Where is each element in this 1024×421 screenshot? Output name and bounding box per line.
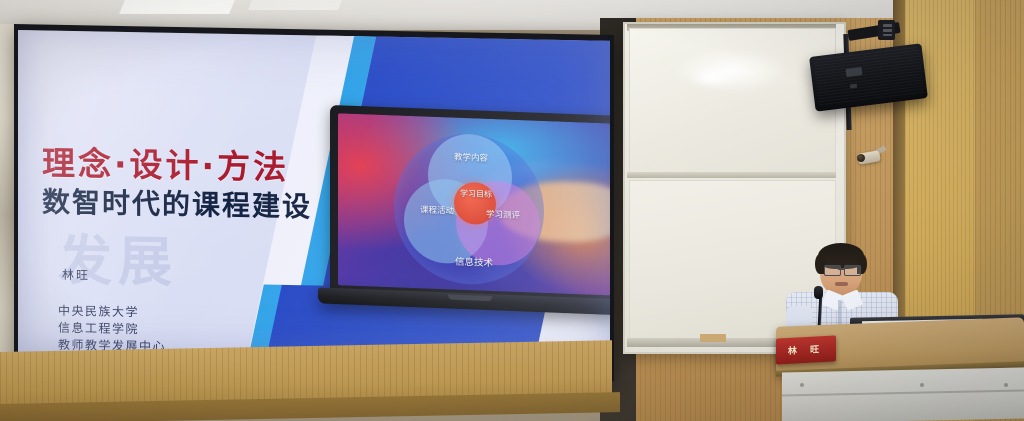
camera-lens-icon	[857, 154, 865, 162]
ceiling-light-secondary-icon	[248, 0, 342, 10]
speaker-brand-mark	[850, 84, 857, 89]
microphone-head-icon	[814, 286, 823, 299]
whiteboard-glare-hotspot	[688, 66, 736, 88]
projection-screen: 发展 理念·设计·方法 数智时代的课程建设 林旺 中央民族大学 信息工程学院 教…	[18, 30, 610, 375]
slide-author: 林旺	[62, 266, 90, 284]
slide-watermark: 发展	[58, 216, 308, 291]
presenter-glasses-left	[824, 265, 841, 276]
venn-diagram: 教学内容 课程活动 学习测评 学习目标 信息技术	[338, 113, 610, 295]
podium-fastener	[920, 383, 924, 387]
whiteboard-rail	[627, 172, 836, 178]
venn-label-center: 学习目标	[460, 190, 490, 200]
podium-fastener	[1004, 383, 1008, 387]
speaker-adjust-knobs	[883, 24, 892, 36]
laptop-mockup: 教学内容 课程活动 学习测评 学习目标 信息技术	[318, 107, 610, 347]
ceiling-light-icon	[119, 0, 235, 14]
slide-affiliation: 中央民族大学 信息工程学院 教师教学发展中心	[58, 303, 166, 356]
presenter-glasses-right	[844, 265, 861, 276]
venn-label-top: 教学内容	[454, 154, 488, 165]
podium-fastener	[800, 383, 804, 387]
slide-subtitle: 数智时代的课程建设	[42, 180, 312, 225]
presenter-glasses-bridge	[838, 268, 845, 270]
whiteboard-eraser	[700, 334, 726, 342]
lecture-hall-photo: 发展 理念·设计·方法 数智时代的课程建设 林旺 中央民族大学 信息工程学院 教…	[0, 0, 1024, 421]
venn-label-right: 学习测评	[486, 211, 518, 222]
laptop-screen: 教学内容 课程活动 学习测评 学习目标 信息技术	[338, 113, 610, 295]
venn-label-left: 课程活动	[420, 206, 452, 217]
presenter-mouth	[835, 282, 848, 286]
